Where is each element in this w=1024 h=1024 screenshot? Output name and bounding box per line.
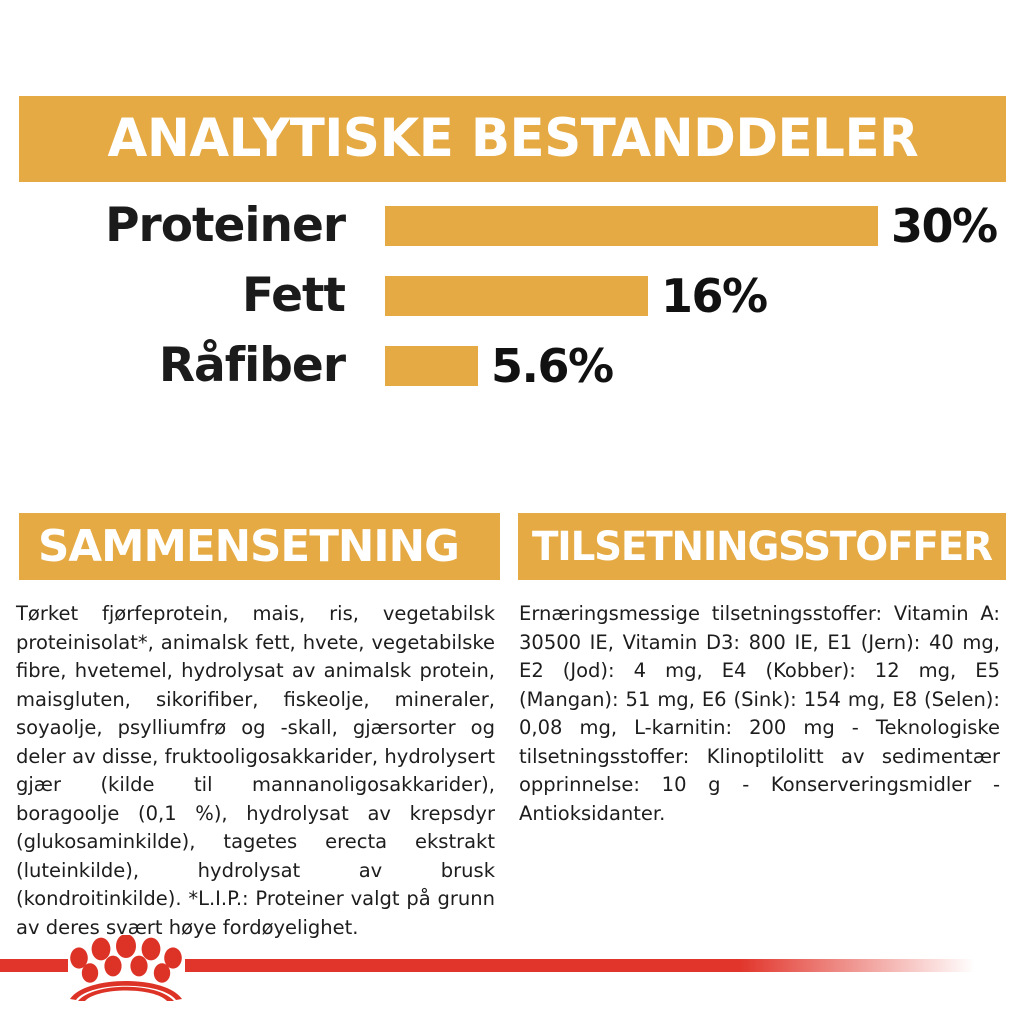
chart-bar-fill bbox=[385, 206, 878, 246]
chart-bar-track: 5.6% bbox=[385, 346, 613, 386]
chart-bar-value: 30% bbox=[891, 202, 997, 250]
chart-bar-label: Fett bbox=[0, 271, 345, 321]
footer-rule-left bbox=[0, 959, 68, 972]
additives-body-text: Ernæringsmessige tilsetningsstoffer: Vit… bbox=[519, 600, 1000, 828]
chart-bar-track: 30% bbox=[385, 206, 997, 246]
chart-bar-value: 5.6% bbox=[491, 342, 613, 390]
chart-bar-fill bbox=[385, 276, 648, 316]
brand-footer bbox=[0, 930, 1024, 1024]
additives-title: TILSETNINGSSTOFFER bbox=[532, 526, 992, 568]
chart-bar-label: Proteiner bbox=[0, 201, 345, 251]
chart-bar-label: Råfiber bbox=[0, 341, 345, 391]
chart-bar-value: 16% bbox=[661, 272, 767, 320]
chart-bar-fill bbox=[385, 346, 478, 386]
analytical-constituents-banner: ANALYTISKE BESTANDDELER bbox=[19, 96, 1006, 182]
additives-banner: TILSETNINGSSTOFFER (pr. kg) bbox=[518, 513, 1006, 580]
chart-bar-row: Råfiber 5.6% bbox=[0, 338, 1024, 394]
footer-rule-right bbox=[185, 959, 975, 972]
analytical-constituents-title: ANALYTISKE BESTANDDELER bbox=[107, 111, 918, 167]
royal-canin-crown-icon bbox=[66, 935, 186, 1001]
composition-banner: SAMMENSETNING bbox=[19, 513, 500, 580]
composition-body-text: Tørket fjørfeprotein, mais, ris, vegetab… bbox=[16, 600, 495, 942]
analytical-constituents-chart: Proteiner 30% Fett 16% Råfiber 5.6% bbox=[0, 196, 1024, 396]
chart-bar-track: 16% bbox=[385, 276, 767, 316]
chart-bar-row: Proteiner 30% bbox=[0, 198, 1024, 254]
product-info-panel: ANALYTISKE BESTANDDELER Proteiner 30% Fe… bbox=[0, 0, 1024, 1024]
chart-bar-row: Fett 16% bbox=[0, 268, 1024, 324]
composition-title: SAMMENSETNING bbox=[38, 524, 459, 570]
